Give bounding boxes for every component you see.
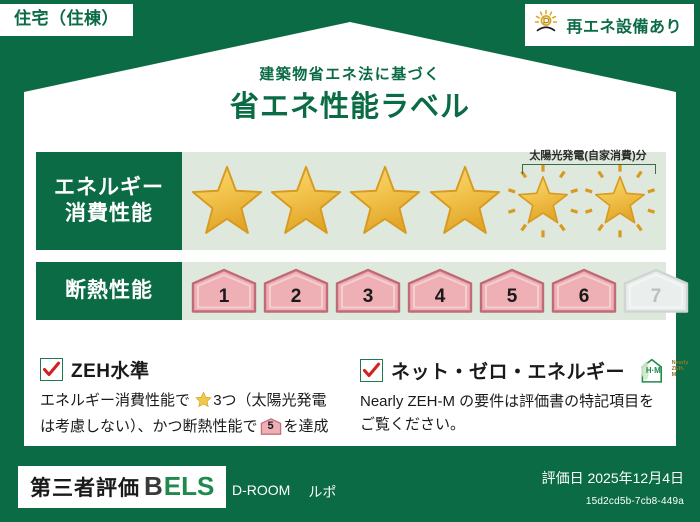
inline-star-icon xyxy=(191,395,212,412)
insulation-grade-number: 2 xyxy=(291,286,302,314)
zeh-body-part1: エネルギー消費性能で xyxy=(40,392,190,409)
third-party-label: 第三者評価 xyxy=(30,472,140,502)
star-filled xyxy=(347,152,424,250)
inline-grade-badge: 5 xyxy=(260,418,282,435)
energy-row-label-line2: 消費性能 xyxy=(65,201,153,227)
insulation-grade-number: 3 xyxy=(363,286,374,314)
energy-performance-label: 住宅（住棟） 再エネ設備あり 建築物省エネ法に基づく 省エ xyxy=(0,0,700,522)
label-title: 省エネ性能ラベル xyxy=(0,83,700,125)
star-filled xyxy=(188,152,265,250)
insulation-grade-scale: 1 2 3 4 5 xyxy=(190,262,658,320)
renewable-badge-label: 再エネ設備あり xyxy=(566,13,682,37)
insulation-grade-badge: 5 xyxy=(478,268,546,314)
insulation-grade-number: 1 xyxy=(219,286,230,314)
energy-row-label-line1: エネルギー xyxy=(54,175,164,201)
renewable-energy-badge: 再エネ設備あり xyxy=(525,4,694,46)
insulation-grade-badge: 6 xyxy=(550,268,618,314)
insulation-grade-badge: 3 xyxy=(334,268,402,314)
zeh-standard-note: ZEH水準 エネルギー消費性能で 3つ（太陽光発電は考慮しない）、かつ断熱性能で… xyxy=(40,356,340,439)
net-zero-energy-heading: ネット・ゼロ・エネルギー H·M Nearly ZEH-M xyxy=(360,356,666,384)
evaluation-date: 評価日 2025年12月4日 xyxy=(542,468,684,488)
solar-note-label: 太陽光発電(自家消費)分 xyxy=(512,147,664,163)
zeh-standard-body: エネルギー消費性能で 3つ（太陽光発電は考慮しない）、かつ断熱性能で 5を達成 xyxy=(40,389,340,439)
star-filled xyxy=(426,152,503,250)
bels-certification-tag: 第三者評価 BELS xyxy=(18,466,226,508)
zeh-standard-heading: ZEH水準 xyxy=(40,356,340,383)
insulation-grade-badge: 2 xyxy=(262,268,330,314)
zeh-standard-title: ZEH水準 xyxy=(71,356,150,383)
insulation-grade-number: 6 xyxy=(579,286,590,314)
insulation-grade-number: 5 xyxy=(507,286,518,314)
net-zero-energy-note: ネット・ゼロ・エネルギー H·M Nearly ZEH-M Nearly ZEH… xyxy=(360,356,666,437)
insulation-row-label: 断熱性能 xyxy=(36,262,182,320)
star-filled xyxy=(267,152,344,250)
brand-droom: D-ROOM xyxy=(232,482,290,502)
solar-note-bracket xyxy=(522,164,656,174)
net-zero-energy-body: Nearly ZEH-M の要件は評価書の特記項目をご覧ください。 xyxy=(360,390,666,437)
label-subtitle: 建築物省エネ法に基づく xyxy=(0,63,700,84)
evaluation-id: 15d2cd5b-7cb8-449a xyxy=(586,496,684,507)
insulation-grade-number: 4 xyxy=(435,286,446,314)
insulation-row-label-text: 断熱性能 xyxy=(65,278,153,304)
insulation-grade-badge: 7 xyxy=(622,268,690,314)
building-type-tag: 住宅（住棟） xyxy=(0,4,133,36)
brand-names: D-ROOM ルポ xyxy=(232,482,336,502)
insulation-grade-badge: 4 xyxy=(406,268,474,314)
insulation-grade-number: 7 xyxy=(651,286,662,314)
building-type-text: 住宅（住棟） xyxy=(14,9,119,28)
insulation-row-body: 1 2 3 4 5 xyxy=(182,262,666,320)
checkmark-icon xyxy=(360,359,383,382)
checkmark-icon xyxy=(40,358,63,381)
insulation-grade-badge: 1 xyxy=(190,268,258,314)
nearly-zeh-m-logo: H·M Nearly ZEH-M xyxy=(637,356,689,384)
bels-logo-b: B xyxy=(144,471,163,502)
logo-caption-zehm: ZEH-M xyxy=(672,367,689,379)
zeh-body-part3: を達成 xyxy=(284,418,329,435)
svg-text:H·M: H·M xyxy=(646,366,661,375)
sun-icon xyxy=(533,9,559,40)
energy-row-label: エネルギー 消費性能 xyxy=(36,152,182,250)
bels-logo-els: ELS xyxy=(164,471,215,502)
inline-grade-number: 5 xyxy=(260,418,282,435)
brand-lupo: ルポ xyxy=(308,482,336,502)
net-zero-energy-title: ネット・ゼロ・エネルギー xyxy=(391,357,625,384)
insulation-performance-row: 断熱性能 1 2 3 4 xyxy=(36,262,666,320)
